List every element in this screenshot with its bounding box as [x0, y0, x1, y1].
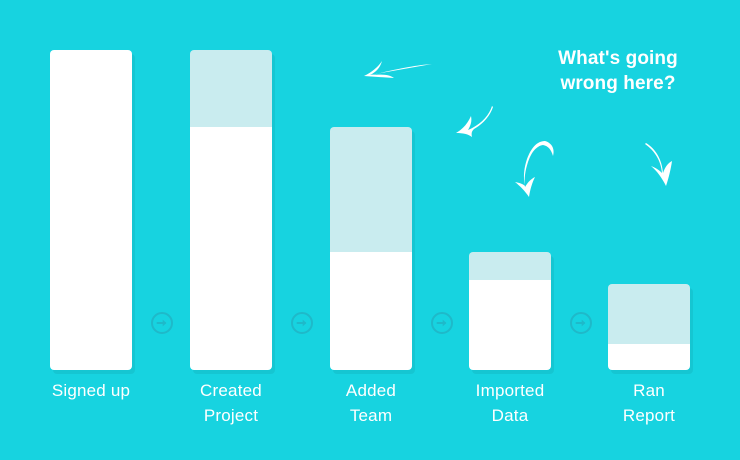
- bar-segment-dropped: [190, 50, 272, 127]
- connector-signed-up-to-created-project[interactable]: [150, 311, 174, 335]
- bar-ran-report[interactable]: [608, 284, 690, 370]
- bar-signed-up[interactable]: [50, 50, 132, 370]
- bar-segment-retained: [469, 280, 551, 370]
- funnel-step-ran-report[interactable]: [608, 284, 690, 370]
- funnel-step-created-project[interactable]: [190, 50, 272, 370]
- arrow-right-circle-icon: [569, 311, 593, 335]
- bar-label-signed-up: Signed up: [16, 378, 166, 403]
- bar-label-created-project: Created Project: [156, 378, 306, 428]
- bar-label-ran-report: Ran Report: [574, 378, 724, 428]
- connector-imported-data-to-ran-report[interactable]: [569, 311, 593, 335]
- funnel-step-imported-data[interactable]: [469, 252, 551, 370]
- bar-segment-retained: [608, 344, 690, 370]
- funnel-chart: Signed up Created Project Added Team Imp…: [0, 0, 740, 460]
- connector-added-team-to-imported-data[interactable]: [430, 311, 454, 335]
- bar-segment-dropped: [608, 284, 690, 345]
- arrow-right-circle-icon: [430, 311, 454, 335]
- bar-segment-retained: [50, 50, 132, 370]
- arrow-right-circle-icon: [150, 311, 174, 335]
- arrow-to-added-team-curved-icon: [447, 103, 497, 143]
- bar-added-team[interactable]: [330, 127, 412, 370]
- connector-created-project-to-added-team[interactable]: [290, 311, 314, 335]
- bar-segment-retained: [190, 127, 272, 370]
- annotation-callout-text: What's going wrong here?: [518, 46, 718, 96]
- bar-segment-dropped: [469, 252, 551, 281]
- bar-segment-dropped: [330, 127, 412, 252]
- funnel-step-signed-up[interactable]: [50, 50, 132, 370]
- arrow-to-imported-data-icon: [512, 137, 558, 201]
- bar-label-imported-data: Imported Data: [435, 378, 585, 428]
- funnel-step-added-team[interactable]: [330, 127, 412, 370]
- arrow-to-ran-report-icon: [641, 140, 681, 190]
- bar-created-project[interactable]: [190, 50, 272, 370]
- arrow-to-added-team-icon: [356, 56, 436, 92]
- arrow-right-circle-icon: [290, 311, 314, 335]
- bar-imported-data[interactable]: [469, 252, 551, 370]
- bar-label-added-team: Added Team: [296, 378, 446, 428]
- bar-segment-retained: [330, 252, 412, 370]
